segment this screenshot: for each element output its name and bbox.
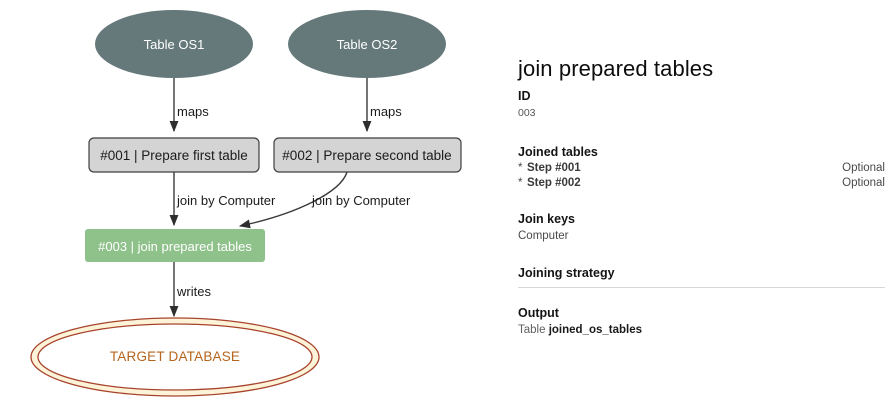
section-heading: ID	[518, 88, 885, 105]
edge-step003-to-targetdb: writes	[174, 262, 211, 316]
graph-node-label: #002 | Prepare second table	[282, 148, 451, 163]
section-heading: Join keys	[518, 211, 885, 228]
graph-node-label: Table OS2	[337, 37, 398, 52]
detail-section-id: ID 003	[518, 88, 885, 121]
edge-label: writes	[176, 284, 211, 299]
graph-node-label: #003 | join prepared tables	[98, 239, 252, 254]
graph-node-label: Table OS1	[144, 37, 205, 52]
edge-label: maps	[370, 104, 402, 119]
section-heading: Output	[518, 305, 885, 322]
edge-label: maps	[177, 104, 209, 119]
detail-panel-title: join prepared tables	[518, 58, 713, 80]
output-value-line: Table joined_os_tables	[518, 322, 885, 338]
joined-table-optional-badge: Optional	[842, 161, 885, 176]
edge-os2-to-step002: maps	[367, 78, 402, 131]
detail-section-joined-tables: Joined tables *Step #001 Optional *Step …	[518, 144, 885, 191]
graph-node-step-003[interactable]: #003 | join prepared tables	[85, 229, 265, 262]
detail-section-joining-strategy: Joining strategy	[518, 265, 885, 288]
joined-table-row-main: *Step #001	[518, 161, 581, 176]
graph-node-label: TARGET DATABASE	[110, 349, 240, 364]
bullet-marker: *	[518, 176, 527, 191]
section-heading: Joined tables	[518, 144, 885, 161]
joined-table-step-ref: Step #002	[527, 177, 581, 189]
detail-section-output: Output Table joined_os_tables	[518, 305, 885, 338]
graph-node-step-001[interactable]: #001 | Prepare first table	[89, 138, 259, 172]
section-heading: Joining strategy	[518, 265, 885, 282]
graph-node-label: #001 | Prepare first table	[100, 148, 248, 163]
section-value: Computer	[518, 228, 885, 244]
edge-label: join by Computer	[176, 193, 276, 208]
graph-node-table-os2[interactable]: Table OS2	[288, 10, 446, 78]
joined-table-optional-badge: Optional	[842, 176, 885, 191]
edge-step001-to-step003: join by Computer	[174, 172, 276, 225]
graph-node-table-os1[interactable]: Table OS1	[95, 10, 253, 78]
joined-table-row-main: *Step #002	[518, 176, 581, 191]
step-detail-panel: join prepared tables ID 003 Joined table…	[518, 0, 885, 405]
joined-table-row[interactable]: *Step #001 Optional	[518, 161, 885, 176]
joined-table-row[interactable]: *Step #002 Optional	[518, 176, 885, 191]
graph-node-step-002[interactable]: #002 | Prepare second table	[274, 138, 461, 172]
edge-label: join by Computer	[311, 193, 411, 208]
workflow-graph-panel: maps maps join by Computer join by Compu…	[0, 0, 500, 405]
edge-os1-to-step001: maps	[174, 78, 209, 131]
output-table-name: joined_os_tables	[549, 324, 642, 336]
output-type-prefix: Table	[518, 324, 546, 336]
bullet-marker: *	[518, 161, 527, 176]
section-value: 003	[518, 105, 885, 121]
section-divider	[518, 287, 885, 288]
detail-section-join-keys: Join keys Computer	[518, 211, 885, 244]
joined-table-step-ref: Step #001	[527, 162, 581, 174]
graph-node-target-database[interactable]: TARGET DATABASE	[31, 318, 319, 396]
workflow-graph-svg: maps maps join by Computer join by Compu…	[0, 0, 500, 405]
